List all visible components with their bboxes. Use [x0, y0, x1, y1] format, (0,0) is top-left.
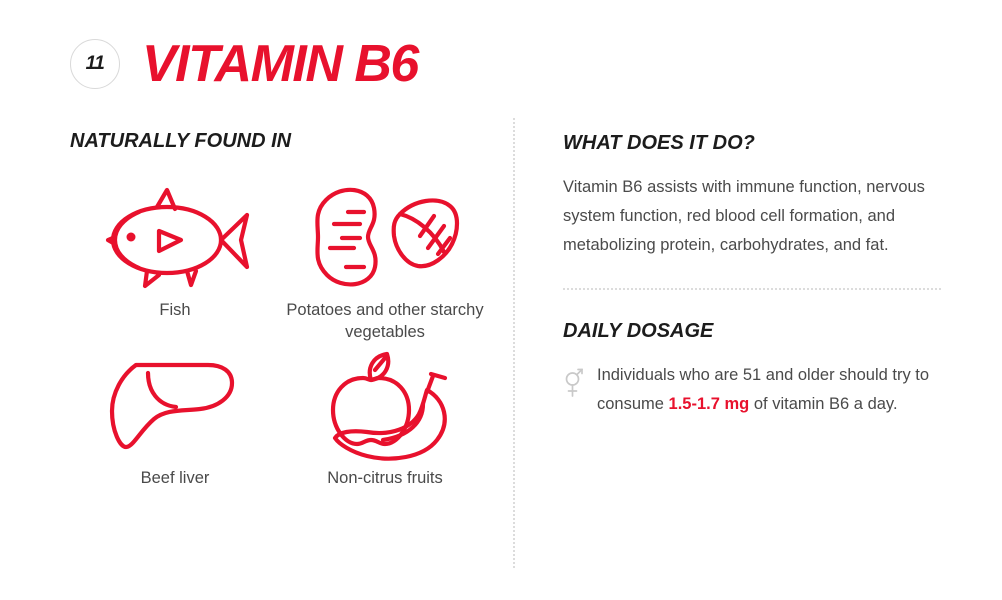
fruits-icon: [305, 349, 465, 461]
column-divider: [513, 118, 515, 568]
male-female-symbol-icon: [563, 365, 583, 404]
food-label-fish: Fish: [159, 299, 190, 321]
what-does-it-do-heading: WHAT DOES IT DO?: [563, 132, 943, 155]
food-label-beef-liver: Beef liver: [141, 467, 210, 489]
dosage-text: Individuals who are 51 and older should …: [597, 361, 943, 420]
food-item-non-citrus-fruits: Non-citrus fruits: [280, 349, 490, 517]
what-does-it-do-body: Vitamin B6 assists with immune function,…: [563, 173, 943, 260]
food-label-potatoes: Potatoes and other starchy vegetables: [285, 299, 485, 344]
food-item-potatoes: Potatoes and other starchy vegetables: [280, 181, 490, 349]
dosage-entry: Individuals who are 51 and older should …: [563, 361, 943, 420]
fish-icon: [95, 181, 255, 293]
section-separator: [563, 288, 941, 290]
food-sources-grid: Fish Potatoes and other s: [70, 181, 490, 517]
food-item-beef-liver: Beef liver: [70, 349, 280, 517]
potato-icon: [298, 181, 473, 293]
dosage-amount: 1.5-1.7 mg: [669, 395, 750, 413]
food-label-non-citrus-fruits: Non-citrus fruits: [327, 467, 443, 489]
naturally-found-in-section: NATURALLY FOUND IN Fish: [70, 130, 490, 517]
food-item-fish: Fish: [70, 181, 280, 349]
page-title: VITAMIN B6: [142, 38, 418, 90]
step-number: 11: [86, 53, 105, 75]
step-number-badge: 11: [70, 39, 120, 89]
daily-dosage-heading: DAILY DOSAGE: [563, 320, 943, 343]
dosage-text-after: of vitamin B6 a day.: [749, 395, 897, 413]
naturally-found-in-heading: NATURALLY FOUND IN: [70, 130, 490, 153]
details-section: WHAT DOES IT DO? Vitamin B6 assists with…: [563, 132, 943, 419]
liver-icon: [100, 349, 250, 461]
page-header: 11 VITAMIN B6: [70, 38, 418, 90]
